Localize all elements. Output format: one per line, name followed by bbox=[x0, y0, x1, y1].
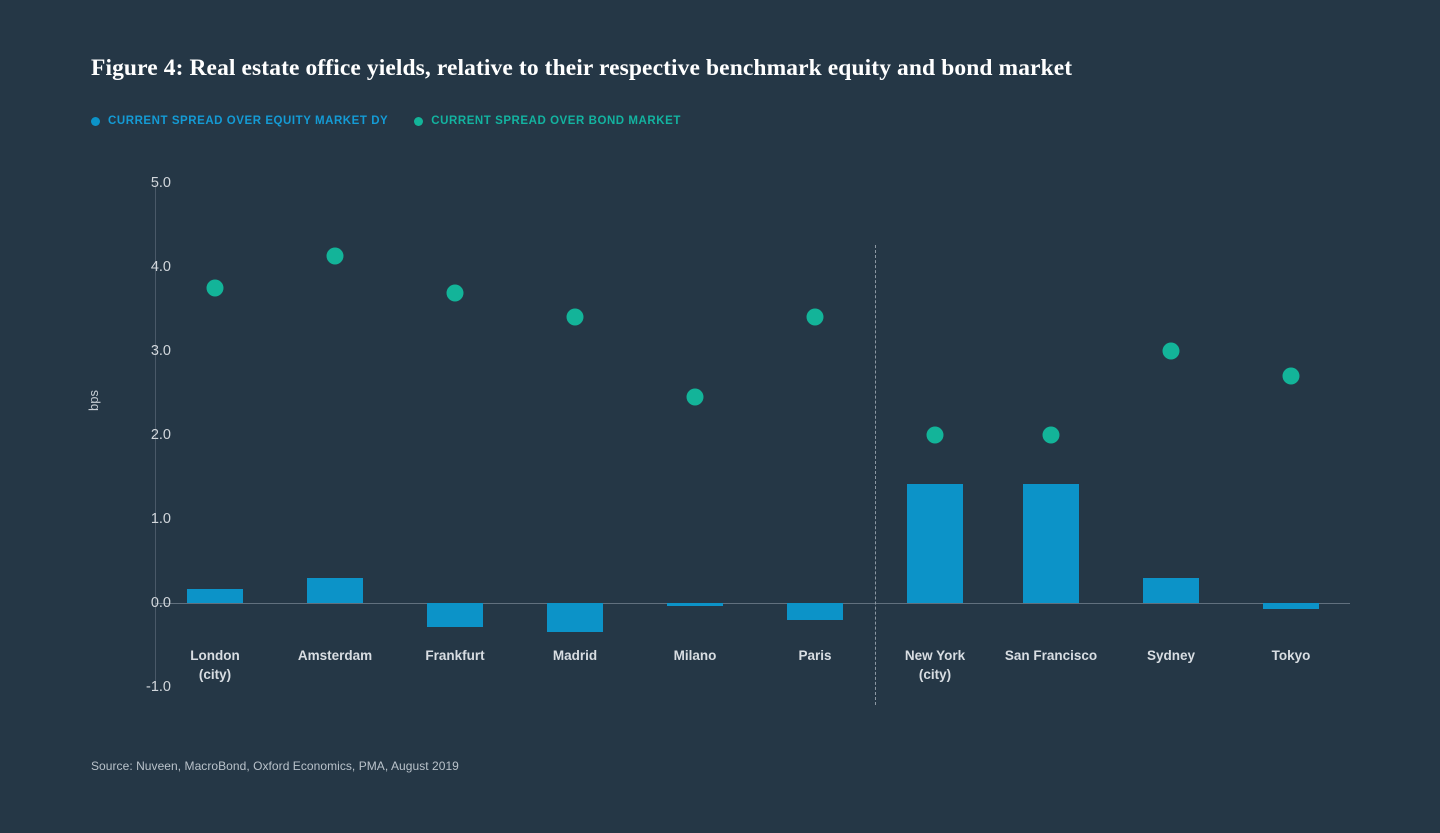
bar-sydney[interactable] bbox=[1143, 578, 1199, 603]
dot-amsterdam[interactable] bbox=[327, 248, 344, 265]
dot-icon bbox=[91, 117, 100, 126]
y-tick-label: 1.0 bbox=[111, 511, 185, 527]
chart-page: Figure 4: Real estate office yields, rel… bbox=[0, 0, 1440, 833]
bar-new-york-city[interactable] bbox=[907, 484, 963, 603]
x-label-line1: London bbox=[190, 648, 239, 663]
dot-paris[interactable] bbox=[807, 309, 824, 326]
y-tick-label: 0.0 bbox=[111, 595, 185, 611]
x-label-line1: Tokyo bbox=[1272, 648, 1311, 663]
x-label-line1: Milano bbox=[674, 648, 717, 663]
bar-milano[interactable] bbox=[667, 603, 723, 606]
x-label-tokyo: Tokyo bbox=[1216, 646, 1366, 665]
x-label-line2: (city) bbox=[860, 665, 1010, 684]
dot-london-city[interactable] bbox=[207, 280, 224, 297]
y-tick-label: 2.0 bbox=[111, 427, 185, 443]
dot-sydney[interactable] bbox=[1163, 343, 1180, 360]
bar-madrid[interactable] bbox=[547, 603, 603, 632]
x-label-line1: San Francisco bbox=[1005, 648, 1097, 663]
x-label-line1: Sydney bbox=[1147, 648, 1195, 663]
x-label-line1: Paris bbox=[798, 648, 831, 663]
legend-item-bond[interactable]: CURRENT SPREAD OVER BOND MARKET bbox=[414, 115, 681, 127]
dot-icon bbox=[414, 117, 423, 126]
y-tick-label: 5.0 bbox=[111, 175, 185, 191]
x-label-line1: Amsterdam bbox=[298, 648, 372, 663]
chart-legend: CURRENT SPREAD OVER EQUITY MARKET DY CUR… bbox=[91, 115, 681, 127]
dot-milano[interactable] bbox=[687, 389, 704, 406]
source-note: Source: Nuveen, MacroBond, Oxford Econom… bbox=[91, 759, 459, 773]
dot-new-york-city[interactable] bbox=[927, 427, 944, 444]
bar-tokyo[interactable] bbox=[1263, 603, 1319, 609]
bar-amsterdam[interactable] bbox=[307, 578, 363, 603]
legend-label-bond: CURRENT SPREAD OVER BOND MARKET bbox=[431, 115, 681, 127]
page-title: Figure 4: Real estate office yields, rel… bbox=[91, 55, 1351, 82]
x-label-line2: (city) bbox=[140, 665, 290, 684]
bar-san-francisco[interactable] bbox=[1023, 484, 1079, 603]
dot-san-francisco[interactable] bbox=[1043, 427, 1060, 444]
legend-label-equity: CURRENT SPREAD OVER EQUITY MARKET DY bbox=[108, 115, 388, 127]
y-axis-title: bps bbox=[86, 390, 101, 411]
dot-madrid[interactable] bbox=[567, 309, 584, 326]
bar-frankfurt[interactable] bbox=[427, 603, 483, 627]
dot-tokyo[interactable] bbox=[1283, 368, 1300, 385]
bar-london-city[interactable] bbox=[187, 589, 243, 603]
legend-item-equity[interactable]: CURRENT SPREAD OVER EQUITY MARKET DY bbox=[91, 115, 388, 127]
y-tick-label: 4.0 bbox=[111, 259, 185, 275]
x-label-line1: Madrid bbox=[553, 648, 597, 663]
x-label-line1: New York bbox=[905, 648, 965, 663]
region-divider-line bbox=[875, 245, 876, 705]
x-label-line1: Frankfurt bbox=[425, 648, 484, 663]
dot-frankfurt[interactable] bbox=[447, 285, 464, 302]
bar-paris[interactable] bbox=[787, 603, 843, 620]
y-tick-label: 3.0 bbox=[111, 343, 185, 359]
plot-area: bps 5.04.03.02.01.00.0-1.0 London(city)A… bbox=[155, 183, 1350, 687]
zero-baseline bbox=[155, 603, 1350, 604]
